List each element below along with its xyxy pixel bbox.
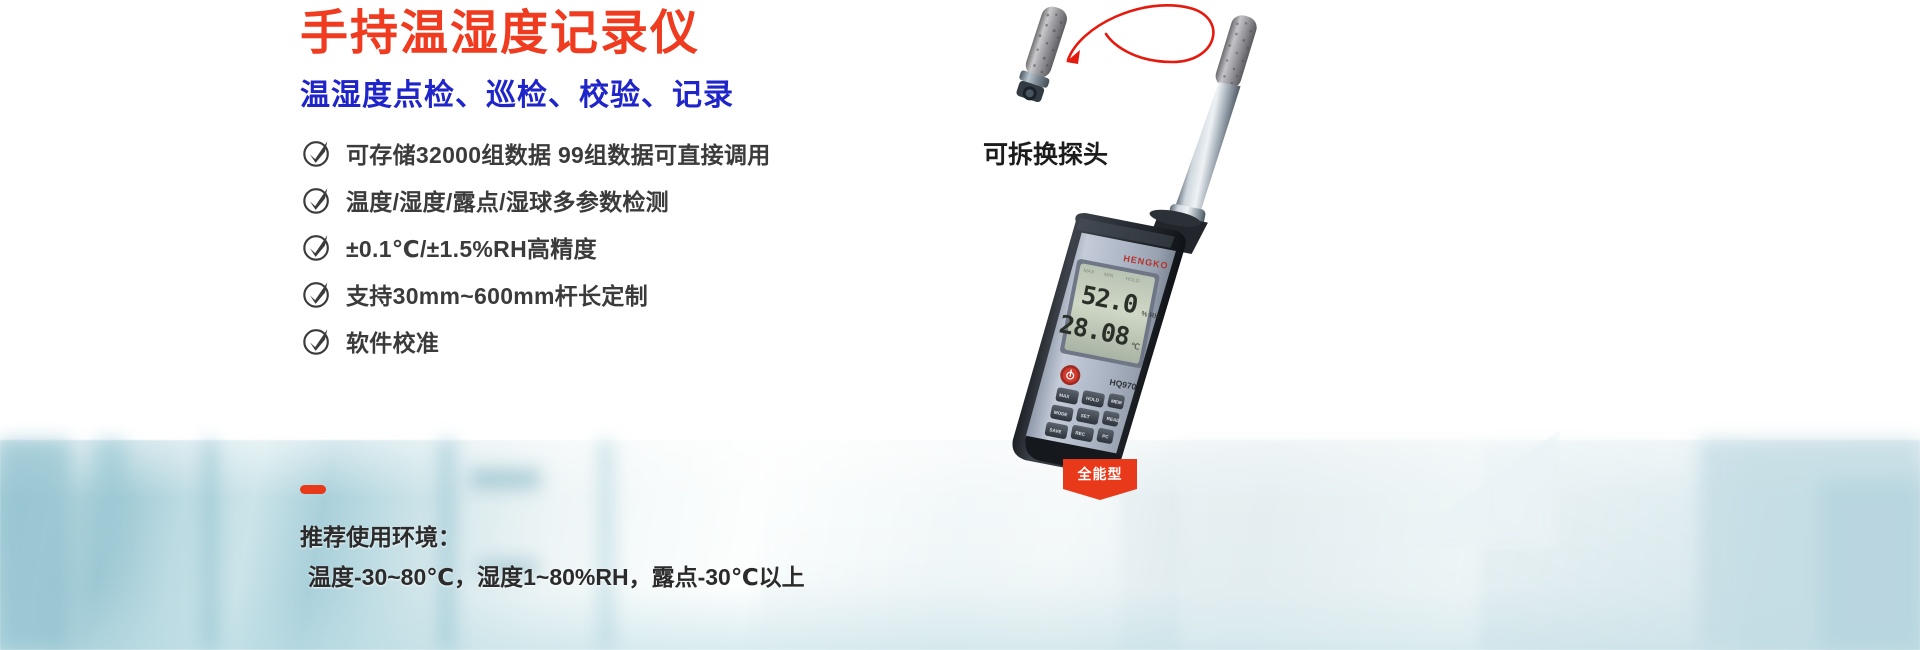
lcd-temperature-unit: ℃ [1130, 341, 1141, 352]
environment-title: 推荐使用环境： [300, 518, 461, 552]
page-title: 手持温湿度记录仪 [300, 8, 700, 61]
list-item: 支持30mm~600mm杆长定制 [302, 270, 771, 317]
feature-list: 可存储32000组数据 99组数据可直接调用 温度/湿度/露点/湿球多参数检测 … [302, 129, 771, 364]
list-item: 温度/湿度/露点/湿球多参数检测 [302, 176, 771, 223]
feature-label: 温度/湿度/露点/湿球多参数检测 [346, 183, 669, 217]
page-subtitle: 温湿度点检、巡检、校验、记录 [300, 78, 734, 114]
list-item: ±0.1℃/±1.5%RH高精度 [302, 223, 771, 270]
list-item: 可存储32000组数据 99组数据可直接调用 [302, 129, 771, 176]
feature-label: ±0.1℃/±1.5%RH高精度 [346, 230, 597, 264]
check-circle-icon [302, 138, 332, 168]
product-image-meter: HENGKO 52.0 % RH 28.08 ℃ MAXMINHOLD HQ9 [930, 0, 1350, 520]
environment-detail: 温度-30~80℃，湿度1~80%RH，露点-30℃以上 [308, 558, 805, 592]
list-item: 软件校准 [302, 317, 771, 364]
product-banner: 手持温湿度记录仪 温湿度点检、巡检、校验、记录 可存储32000组数据 99组数… [0, 0, 1920, 650]
feature-label: 支持30mm~600mm杆长定制 [346, 277, 648, 311]
badge-label: 全能型 [1078, 464, 1123, 484]
badge-tail [1063, 489, 1137, 500]
check-circle-icon [302, 185, 332, 215]
check-circle-icon [302, 232, 332, 262]
section-divider-dash [300, 485, 326, 494]
feature-label: 软件校准 [346, 324, 439, 358]
status-badge: 全能型 [1063, 459, 1137, 489]
feature-label: 可存储32000组数据 99组数据可直接调用 [346, 136, 771, 170]
check-circle-icon [302, 279, 332, 309]
check-circle-icon [302, 326, 332, 356]
